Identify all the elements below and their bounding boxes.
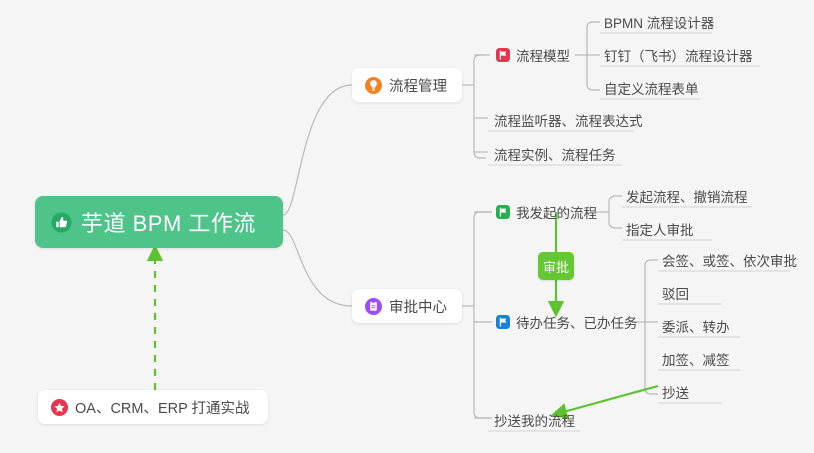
leaf-cc[interactable]: 抄送 bbox=[658, 379, 693, 405]
leaf-label: 自定义流程表单 bbox=[604, 78, 699, 98]
integration-label: OA、CRM、ERP 打通实战 bbox=[75, 397, 250, 418]
flag-icon-red bbox=[496, 48, 510, 62]
lightbulb-icon bbox=[365, 77, 382, 94]
leaf-delegate-transfer[interactable]: 委派、转办 bbox=[658, 313, 734, 339]
link-approval-center-bracket bbox=[474, 212, 492, 418]
leaf-label: 钉钉（飞书）流程设计器 bbox=[604, 45, 753, 65]
leaf-label: 指定人审批 bbox=[626, 219, 694, 239]
leaf-label: 加签、减签 bbox=[662, 349, 730, 369]
leaf-instance-task[interactable]: 流程实例、流程任务 bbox=[490, 141, 620, 167]
leaf-label: 抄送我的流程 bbox=[494, 410, 575, 430]
leaf-initiate-cancel[interactable]: 发起流程、撤销流程 bbox=[622, 183, 752, 209]
leaf-label: 发起流程、撤销流程 bbox=[626, 186, 748, 206]
branch-node-process-mgmt[interactable]: 流程管理 bbox=[352, 68, 462, 102]
subnode-label-process-model: 流程模型 bbox=[516, 45, 570, 65]
link-root-to-approval-center bbox=[283, 230, 352, 306]
subnode-todo-done[interactable]: 待办任务、已办任务 bbox=[492, 309, 642, 335]
leaf-countersign[interactable]: 会签、或签、依次审批 bbox=[658, 247, 801, 273]
leaf-dingtalk-designer[interactable]: 钉钉（飞书）流程设计器 bbox=[600, 42, 757, 68]
leaf-bpmn-designer[interactable]: BPMN 流程设计器 bbox=[600, 9, 718, 35]
node-integration-practice[interactable]: OA、CRM、ERP 打通实战 bbox=[38, 390, 268, 424]
link-process-mgmt-bracket bbox=[474, 55, 486, 158]
flag-icon-green bbox=[496, 205, 510, 219]
leaf-add-remove-sign[interactable]: 加签、减签 bbox=[658, 346, 734, 372]
clipboard-icon bbox=[365, 298, 382, 315]
link-root-to-process-mgmt bbox=[283, 85, 352, 215]
link-my-initiated-bracket bbox=[609, 196, 622, 228]
branch-node-approval-center[interactable]: 审批中心 bbox=[352, 289, 462, 323]
subnode-my-initiated[interactable]: 我发起的流程 bbox=[492, 199, 601, 225]
leaf-reject[interactable]: 驳回 bbox=[658, 280, 693, 306]
link-process-model-bracket bbox=[587, 22, 600, 90]
mindmap-canvas: 芋道 BPM 工作流 流程管理 流程模型 BPMN 流程设计器 钉钉（飞书）流程 bbox=[0, 0, 814, 453]
subnode-label-my-initiated: 我发起的流程 bbox=[516, 202, 597, 222]
root-label: 芋道 BPM 工作流 bbox=[81, 206, 256, 238]
leaf-label: 流程实例、流程任务 bbox=[494, 144, 616, 164]
leaf-listener-expression[interactable]: 流程监听器、流程表达式 bbox=[490, 107, 647, 133]
annotation-tag-approval[interactable]: 审批 bbox=[538, 252, 574, 280]
branch-label-approval-center: 审批中心 bbox=[389, 296, 447, 317]
leaf-custom-form[interactable]: 自定义流程表单 bbox=[600, 75, 703, 101]
thumbs-up-icon bbox=[51, 212, 72, 233]
flag-icon-blue bbox=[496, 315, 510, 329]
leaf-label: BPMN 流程设计器 bbox=[604, 12, 714, 32]
leaf-label: 抄送 bbox=[662, 382, 689, 402]
leaf-cc-to-me[interactable]: 抄送我的流程 bbox=[490, 407, 579, 433]
root-node[interactable]: 芋道 BPM 工作流 bbox=[35, 196, 283, 248]
link-todo-done-bracket bbox=[645, 260, 658, 394]
branch-label-process-mgmt: 流程管理 bbox=[389, 75, 447, 96]
tag-label: 审批 bbox=[543, 257, 569, 276]
leaf-label: 会签、或签、依次审批 bbox=[662, 250, 797, 270]
leaf-label: 委派、转办 bbox=[662, 316, 730, 336]
leaf-label: 流程监听器、流程表达式 bbox=[494, 110, 643, 130]
star-icon bbox=[51, 399, 68, 416]
leaf-label: 驳回 bbox=[662, 283, 689, 303]
leaf-assignee-approval[interactable]: 指定人审批 bbox=[622, 216, 698, 242]
subnode-label-todo-done: 待办任务、已办任务 bbox=[516, 312, 638, 332]
subnode-process-model[interactable]: 流程模型 bbox=[492, 42, 574, 68]
